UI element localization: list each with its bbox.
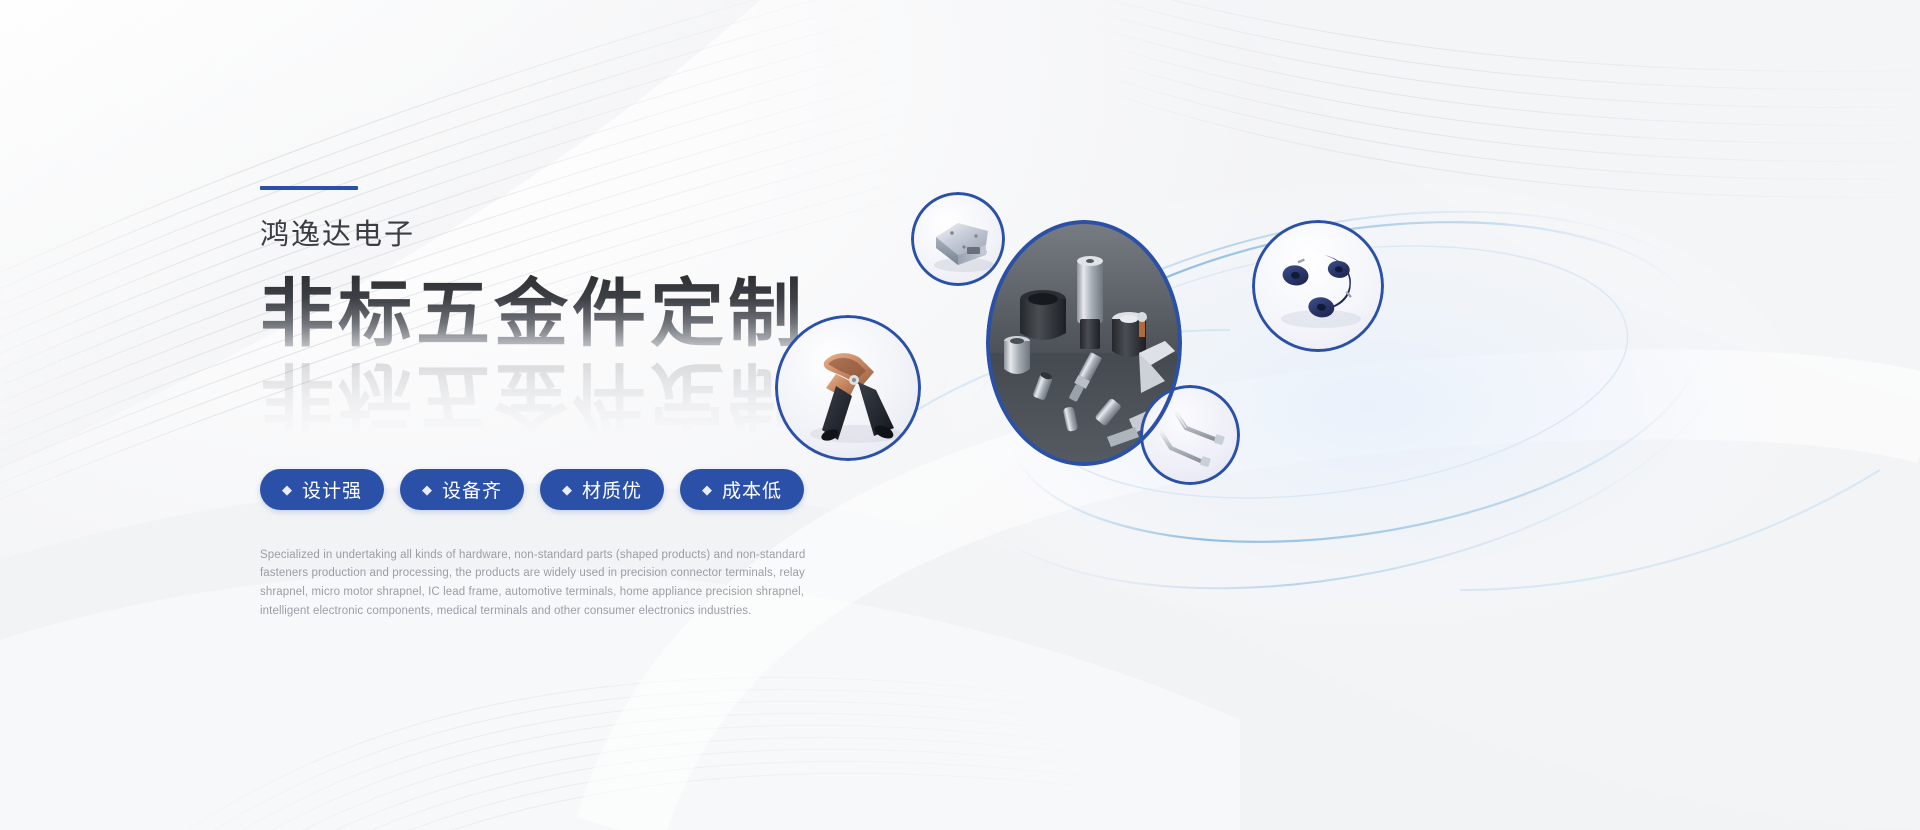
metal-enclosure-bubble[interactable] bbox=[911, 192, 1005, 286]
feature-tag-cost[interactable]: ◆ 成本低 bbox=[680, 469, 804, 510]
feature-tag-material[interactable]: ◆ 材质优 bbox=[540, 469, 664, 510]
bent-terminal-pins-image bbox=[1143, 388, 1237, 482]
retaining-clip-image bbox=[1255, 223, 1381, 349]
diamond-icon: ◆ bbox=[422, 483, 433, 496]
feature-tag-equipment[interactable]: ◆ 设备齐 bbox=[400, 469, 524, 510]
battery-clamp-image bbox=[778, 318, 918, 458]
diamond-icon: ◆ bbox=[702, 483, 713, 496]
diamond-icon: ◆ bbox=[562, 483, 573, 496]
feature-tag-label: 设计强 bbox=[302, 476, 362, 503]
hero-banner: 鸿逸达电子 非标五金件定制 非标五金件定制 ◆ 设计强 ◆ 设备齐 ◆ 材质优 … bbox=[0, 0, 1920, 830]
feature-tag-list: ◆ 设计强 ◆ 设备齐 ◆ 材质优 ◆ 成本低 bbox=[260, 469, 900, 510]
feature-tag-label: 成本低 bbox=[722, 476, 782, 503]
headline-reflection: 非标五金件定制 bbox=[260, 357, 806, 435]
accent-rule bbox=[260, 186, 358, 190]
description-paragraph: Specialized in undertaking all kinds of … bbox=[260, 546, 825, 621]
feature-tag-design[interactable]: ◆ 设计强 bbox=[260, 469, 384, 510]
feature-tag-label: 设备齐 bbox=[442, 476, 502, 503]
brand-name: 鸿逸达电子 bbox=[260, 218, 900, 253]
battery-clamp-bubble[interactable] bbox=[775, 315, 921, 461]
feature-tag-label: 材质优 bbox=[582, 476, 642, 503]
metal-enclosure-image bbox=[914, 195, 1002, 283]
product-visual bbox=[900, 120, 1920, 680]
diamond-icon: ◆ bbox=[282, 483, 293, 496]
bent-terminal-pins-bubble[interactable] bbox=[1140, 385, 1240, 485]
retaining-clip-bubble[interactable] bbox=[1252, 220, 1384, 352]
